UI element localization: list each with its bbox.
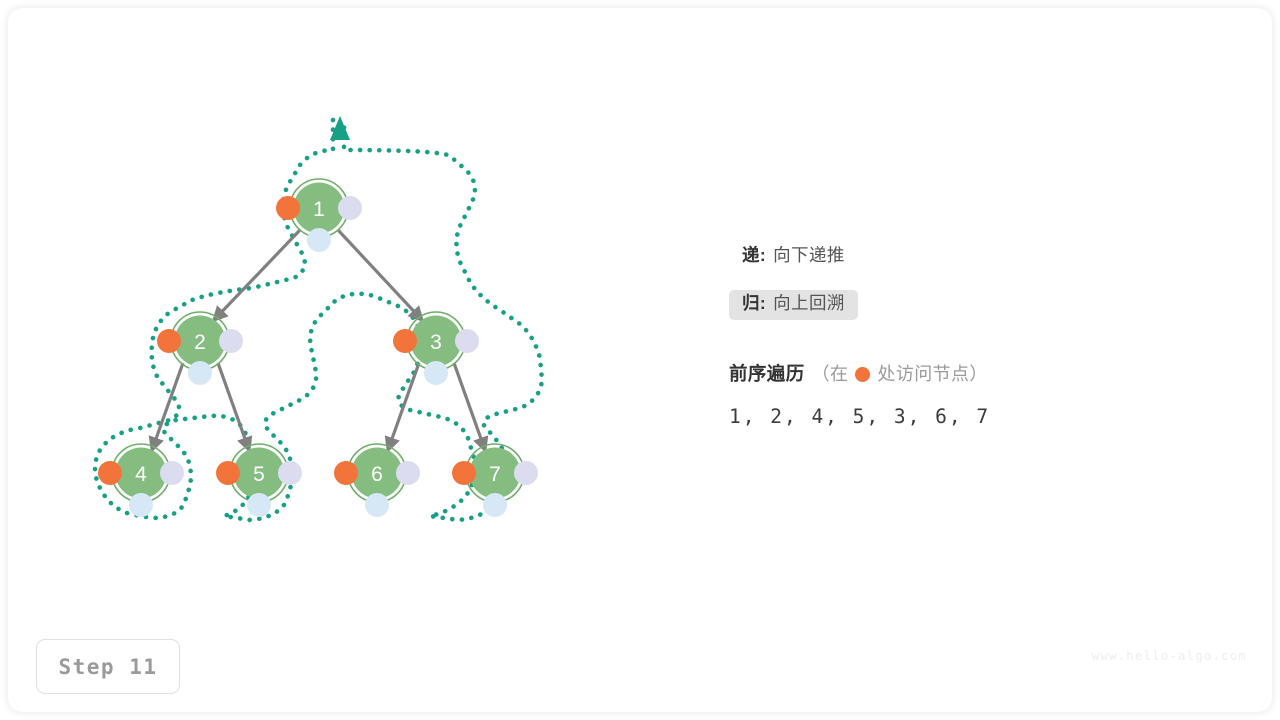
figure-canvas: 1 2 3	[0, 0, 1280, 720]
tree-node-4[interactable]: 4	[98, 444, 184, 517]
watermark: www.hello-algo.com	[1092, 648, 1247, 663]
node-right-slot	[219, 329, 243, 353]
node-visit-dot	[216, 461, 240, 485]
node-right-slot	[338, 196, 362, 220]
legend-value: 向上回溯	[773, 295, 845, 313]
node-right-slot	[160, 461, 184, 485]
legend-value: 向下递推	[773, 247, 845, 265]
tree-node-6[interactable]: 6	[334, 444, 420, 517]
traversal-title: 前序遍历 （在 处访问节点）	[729, 360, 1229, 386]
legend: 递: 向下递推 归: 向上回溯	[729, 238, 1209, 334]
node-right-slot	[278, 461, 302, 485]
traversal-paren-close: 处访问节点）	[877, 360, 987, 386]
node-label: 4	[135, 463, 147, 486]
tree-node-3[interactable]: 3	[393, 312, 479, 385]
node-bottom-slot	[188, 361, 212, 385]
node-label: 2	[194, 331, 206, 354]
node-right-slot	[396, 461, 420, 485]
legend-chip-highlighted: 归: 向上回溯	[729, 290, 858, 320]
traversal-sequence: 1, 2, 4, 5, 3, 6, 7	[729, 405, 1229, 428]
traversal-paren-open: （在	[812, 360, 849, 386]
node-label: 6	[371, 463, 383, 486]
node-bottom-slot	[129, 493, 153, 517]
node-label: 7	[489, 463, 501, 486]
node-visit-dot	[276, 196, 300, 220]
node-bottom-slot	[424, 361, 448, 385]
legend-key: 归:	[742, 295, 766, 313]
step-badge: Step 11	[36, 639, 180, 694]
node-visit-dot	[452, 461, 476, 485]
node-right-slot	[455, 329, 479, 353]
orange-visit-dot-icon	[855, 367, 870, 382]
legend-row-recurse: 递: 向下递推	[729, 238, 1209, 276]
edge-3-7	[454, 363, 485, 450]
legend-row-backtrack: 归: 向上回溯	[729, 286, 1209, 324]
node-bottom-slot	[307, 228, 331, 252]
tree-node-7[interactable]: 7	[452, 444, 538, 517]
node-right-slot	[514, 461, 538, 485]
node-bottom-slot	[247, 493, 271, 517]
legend-key: 递:	[742, 247, 766, 265]
tree-node-2[interactable]: 2	[157, 312, 243, 385]
traversal-block: 前序遍历 （在 处访问节点） 1, 2, 4, 5, 3, 6, 7	[729, 360, 1229, 428]
node-bottom-slot	[365, 493, 389, 517]
node-visit-dot	[393, 329, 417, 353]
node-label: 5	[253, 463, 265, 486]
edge-1-3	[338, 230, 422, 320]
edge-1-2	[214, 230, 300, 320]
node-visit-dot	[157, 329, 181, 353]
legend-chip: 递: 向下递推	[729, 242, 858, 272]
node-label: 1	[313, 198, 325, 221]
tree-node-5[interactable]: 5	[216, 444, 302, 517]
edge-2-5	[218, 363, 249, 450]
edge-3-6	[388, 363, 419, 450]
traversal-name: 前序遍历	[729, 360, 805, 386]
node-label: 3	[430, 331, 442, 354]
node-bottom-slot	[483, 493, 507, 517]
node-visit-dot	[334, 461, 358, 485]
node-visit-dot	[98, 461, 122, 485]
tree-nodes: 1 2 3	[98, 179, 538, 517]
